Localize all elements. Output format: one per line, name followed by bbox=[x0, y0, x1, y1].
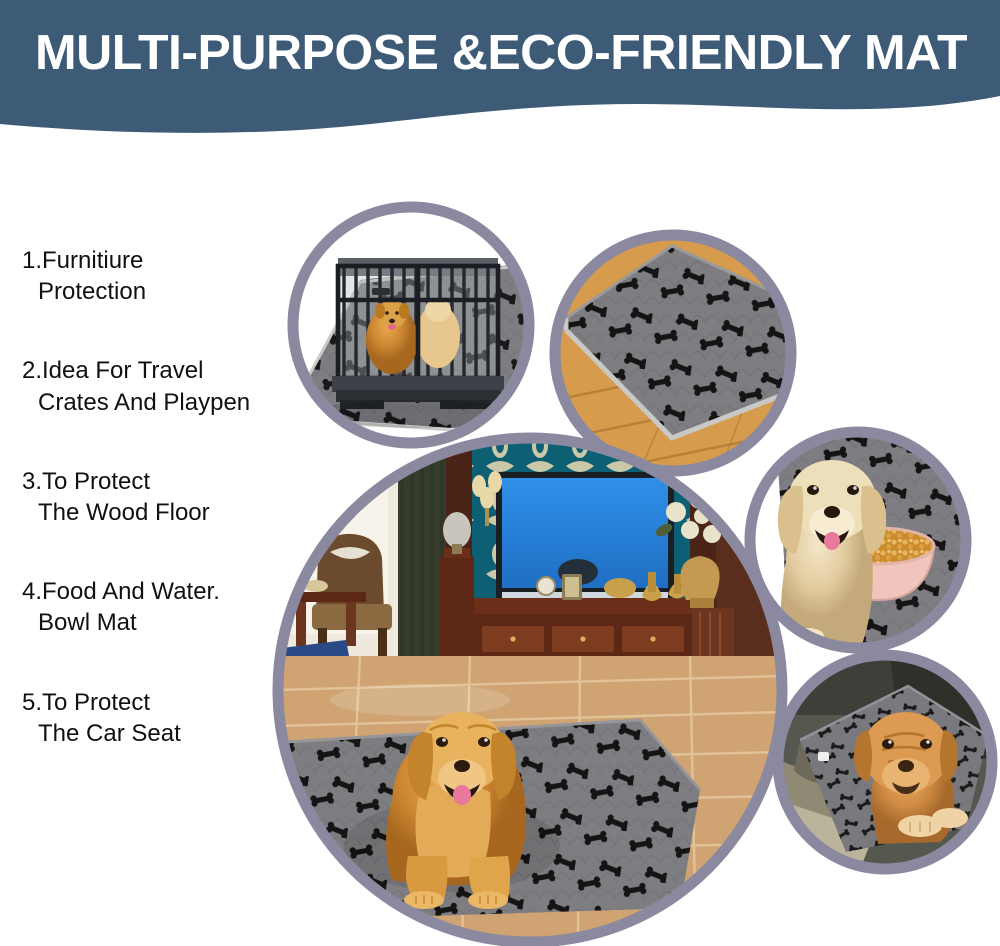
page-title: MULTI-PURPOSE &ECO-FRIENDLY MAT bbox=[35, 25, 994, 81]
feature-item-3: 3.To Protect The Wood Floor bbox=[0, 466, 285, 528]
feature-list: 1.Furnitiure Protection 2.Idea For Trave… bbox=[0, 245, 285, 797]
dog-cream-retriever bbox=[778, 460, 886, 650]
feature-3-line-1: 3.To Protect bbox=[0, 466, 285, 497]
collage-circle-living-room bbox=[278, 438, 782, 942]
ring-wood-floor bbox=[555, 235, 791, 471]
dog-bulldog-puppy bbox=[854, 712, 968, 844]
ring-living-room bbox=[278, 438, 782, 942]
feature-item-1: 1.Furnitiure Protection bbox=[0, 245, 285, 307]
feature-4-line-1: 4.Food And Water. bbox=[0, 576, 285, 607]
feature-item-4: 4.Food And Water. Bowl Mat bbox=[0, 576, 285, 638]
feature-4-line-2: Bowl Mat bbox=[0, 607, 285, 638]
feature-2-line-2: Crates And Playpen bbox=[0, 387, 285, 418]
collage-circle-food-bowl bbox=[750, 432, 966, 650]
ring-crate bbox=[293, 207, 529, 443]
feature-3-line-2: The Wood Floor bbox=[0, 497, 285, 528]
feature-5-line-1: 5.To Protect bbox=[0, 687, 285, 718]
collage-circle-car-seat bbox=[778, 655, 992, 869]
header-banner: MULTI-PURPOSE &ECO-FRIENDLY MAT bbox=[0, 0, 1000, 150]
feature-1-line-2: Protection bbox=[0, 276, 285, 307]
collage-circle-wood-floor bbox=[555, 235, 791, 471]
ring-food-bowl bbox=[750, 432, 966, 648]
collage-circle-crate bbox=[293, 207, 545, 443]
dog-golden-retriever-lying bbox=[344, 712, 560, 909]
ring-car-seat bbox=[778, 655, 992, 869]
feature-2-line-1: 2.Idea For Travel bbox=[0, 355, 285, 386]
feature-item-2: 2.Idea For Travel Crates And Playpen bbox=[0, 355, 285, 417]
feature-5-line-2: The Car Seat bbox=[0, 718, 285, 749]
feature-1-line-1: 1.Furnitiure bbox=[0, 245, 285, 276]
feature-item-5: 5.To Protect The Car Seat bbox=[0, 687, 285, 749]
